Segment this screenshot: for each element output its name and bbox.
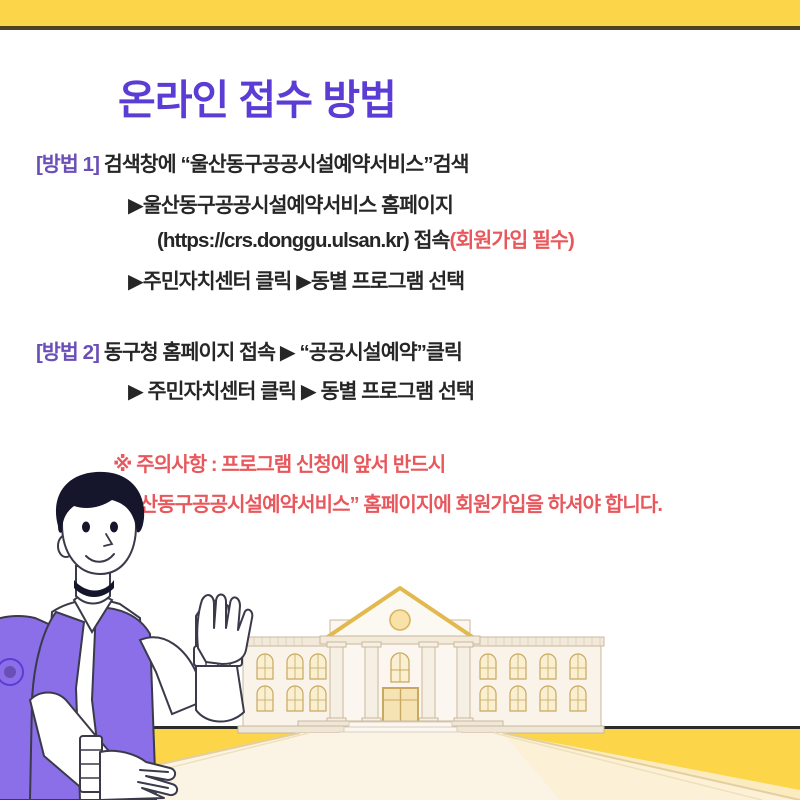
government-building: [238, 588, 604, 748]
shoulder-badge: [0, 659, 23, 685]
right-wing-windows: [480, 654, 586, 711]
notice-line-0: ※ 주의사항 : 프로그램 신청에 앞서 반드시: [113, 446, 445, 484]
notice-line-1: “울산동구공공시설예약서비스” 홈페이지에 회원가입을 하셔야 합니다.: [113, 486, 662, 524]
ear: [58, 535, 74, 557]
ground-yellow: [0, 726, 800, 800]
method-1-signup-required: (회원가입 필수): [450, 229, 574, 252]
method-1-line-3: ▶주민자치센터 클릭 ▶동별 프로그램 선택: [128, 263, 464, 301]
plaza-walkway: [0, 733, 800, 800]
method-2-tag: [방법 2]: [36, 341, 99, 364]
eye-left: [82, 522, 90, 533]
building-columns: [327, 642, 473, 723]
method-1-url-text: (https://crs.donggu.ulsan.kr) 접속: [157, 229, 450, 252]
building-steps: [327, 722, 474, 748]
lower-hand: [100, 751, 177, 800]
top-yellow-banner: [0, 0, 800, 30]
method-1-line-0: [방법 1] 검색창에 “울산동구공공시설예약서비스”검색: [36, 146, 469, 184]
method-1-tag: [방법 1]: [36, 153, 99, 176]
sleeve-cuff-left: [80, 736, 102, 792]
waving-hand: [197, 595, 252, 665]
method-1-line-2: (https://crs.donggu.ulsan.kr) 접속(회원가입 필수…: [157, 222, 574, 260]
main-entrance-door: [383, 688, 418, 728]
method-1-line-1: ▶울산동구공공시설예약서비스 홈페이지: [128, 187, 453, 225]
method-2-line-1: ▶ 주민자치센터 클릭 ▶ 동별 프로그램 선택: [128, 373, 474, 411]
central-window: [391, 653, 409, 682]
method-2-line-0: [방법 2] 동구청 홈페이지 접속 ▶ “공공시설예약”클릭: [36, 334, 462, 372]
method-1-line-0-text: 검색창에 “울산동구공공시설예약서비스”검색: [104, 153, 469, 176]
sleeve-cuff-right: [194, 646, 242, 666]
left-wing-windows: [257, 654, 326, 711]
page-title: 온라인 접수 방법: [118, 66, 396, 126]
pediment: [320, 588, 480, 644]
method-2-line-0-text: 동구청 홈페이지 접속 ▶ “공공시설예약”클릭: [104, 341, 462, 364]
